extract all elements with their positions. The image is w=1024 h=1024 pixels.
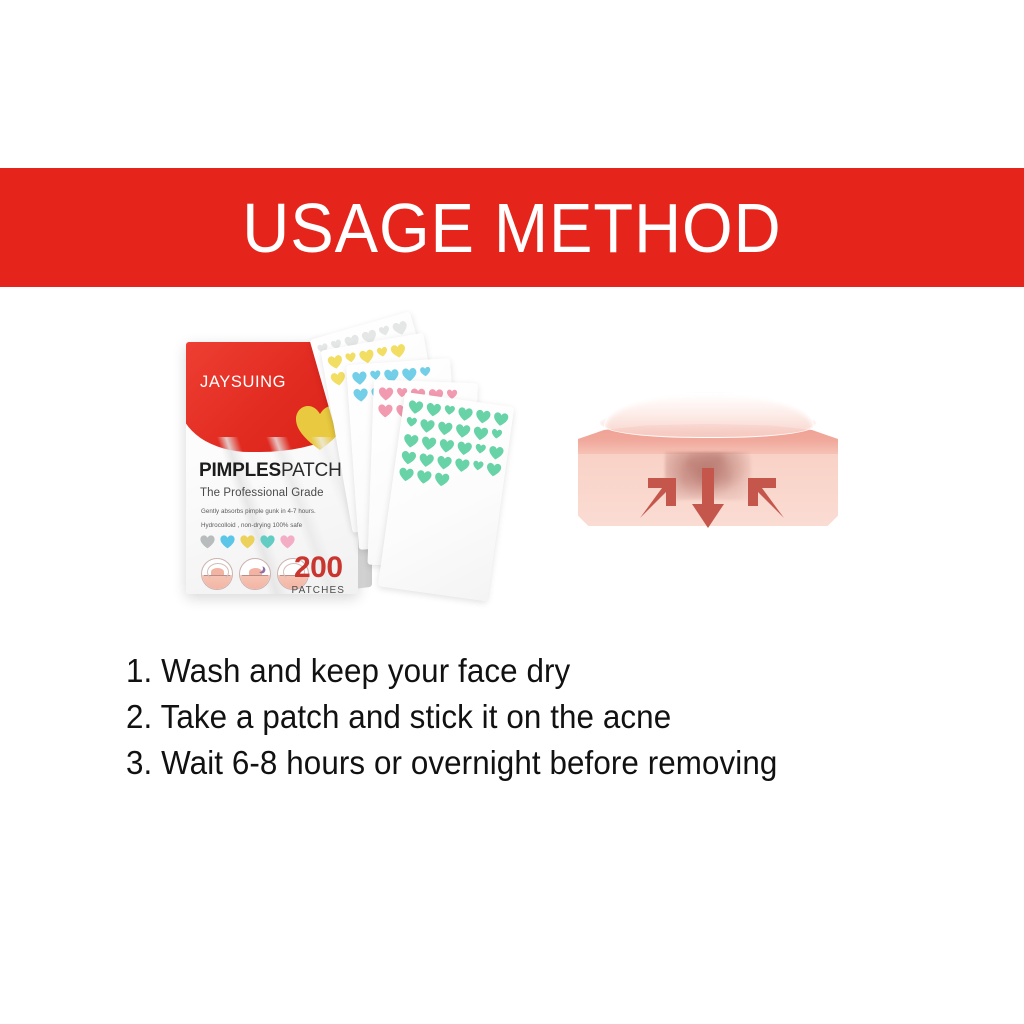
arrow-down-left-icon	[630, 470, 686, 526]
patch-count-label: PATCHES	[292, 586, 345, 594]
acne-bump-icon	[201, 558, 233, 590]
patch-count: 200 PATCHES	[292, 553, 345, 594]
color-swatch-row	[200, 535, 295, 549]
instruction-step-3: 3. Wait 6-8 hours or overnight before re…	[126, 740, 905, 786]
usage-method-banner: USAGE METHOD	[0, 168, 1024, 287]
arrow-down-icon	[691, 468, 725, 530]
heart-swatch-blue	[220, 535, 235, 549]
arrow-down-right-icon	[738, 470, 794, 526]
heart-swatch-teal	[260, 535, 275, 549]
product-title-light: PATCH	[281, 460, 342, 481]
skin-cross-section	[578, 386, 838, 536]
instruction-step-2: 2. Take a patch and stick it on the acne	[126, 694, 905, 740]
instruction-step-1: 1. Wash and keep your face dry	[126, 648, 905, 694]
product-illustration-area: JAYSUING PIMPLESPATCH The Professional G…	[0, 300, 1024, 630]
product-title-bold: PIMPLES	[199, 460, 281, 481]
product-fineprint-1: Gently absorbs pimple gunk in 4-7 hours.	[201, 508, 316, 515]
overnight-moon-icon	[239, 558, 271, 590]
instruction-list: 1. Wash and keep your face dry 2. Take a…	[126, 648, 946, 786]
heart-swatch-yellow	[240, 535, 255, 549]
patch-sheet-fan	[352, 334, 542, 614]
brand-name: JAYSUING	[200, 373, 286, 392]
heart-swatch-pink	[280, 535, 295, 549]
patch-count-number: 200	[292, 553, 345, 583]
page-title: USAGE METHOD	[242, 193, 781, 263]
product-subtitle: The Professional Grade	[200, 487, 324, 499]
hydrocolloid-patch	[604, 392, 814, 438]
heart-swatch-gray	[200, 535, 215, 549]
product-fineprint-2: Hydrocolloid , non-drying 100% safe	[201, 522, 302, 529]
product-title: PIMPLESPATCH	[199, 460, 342, 482]
